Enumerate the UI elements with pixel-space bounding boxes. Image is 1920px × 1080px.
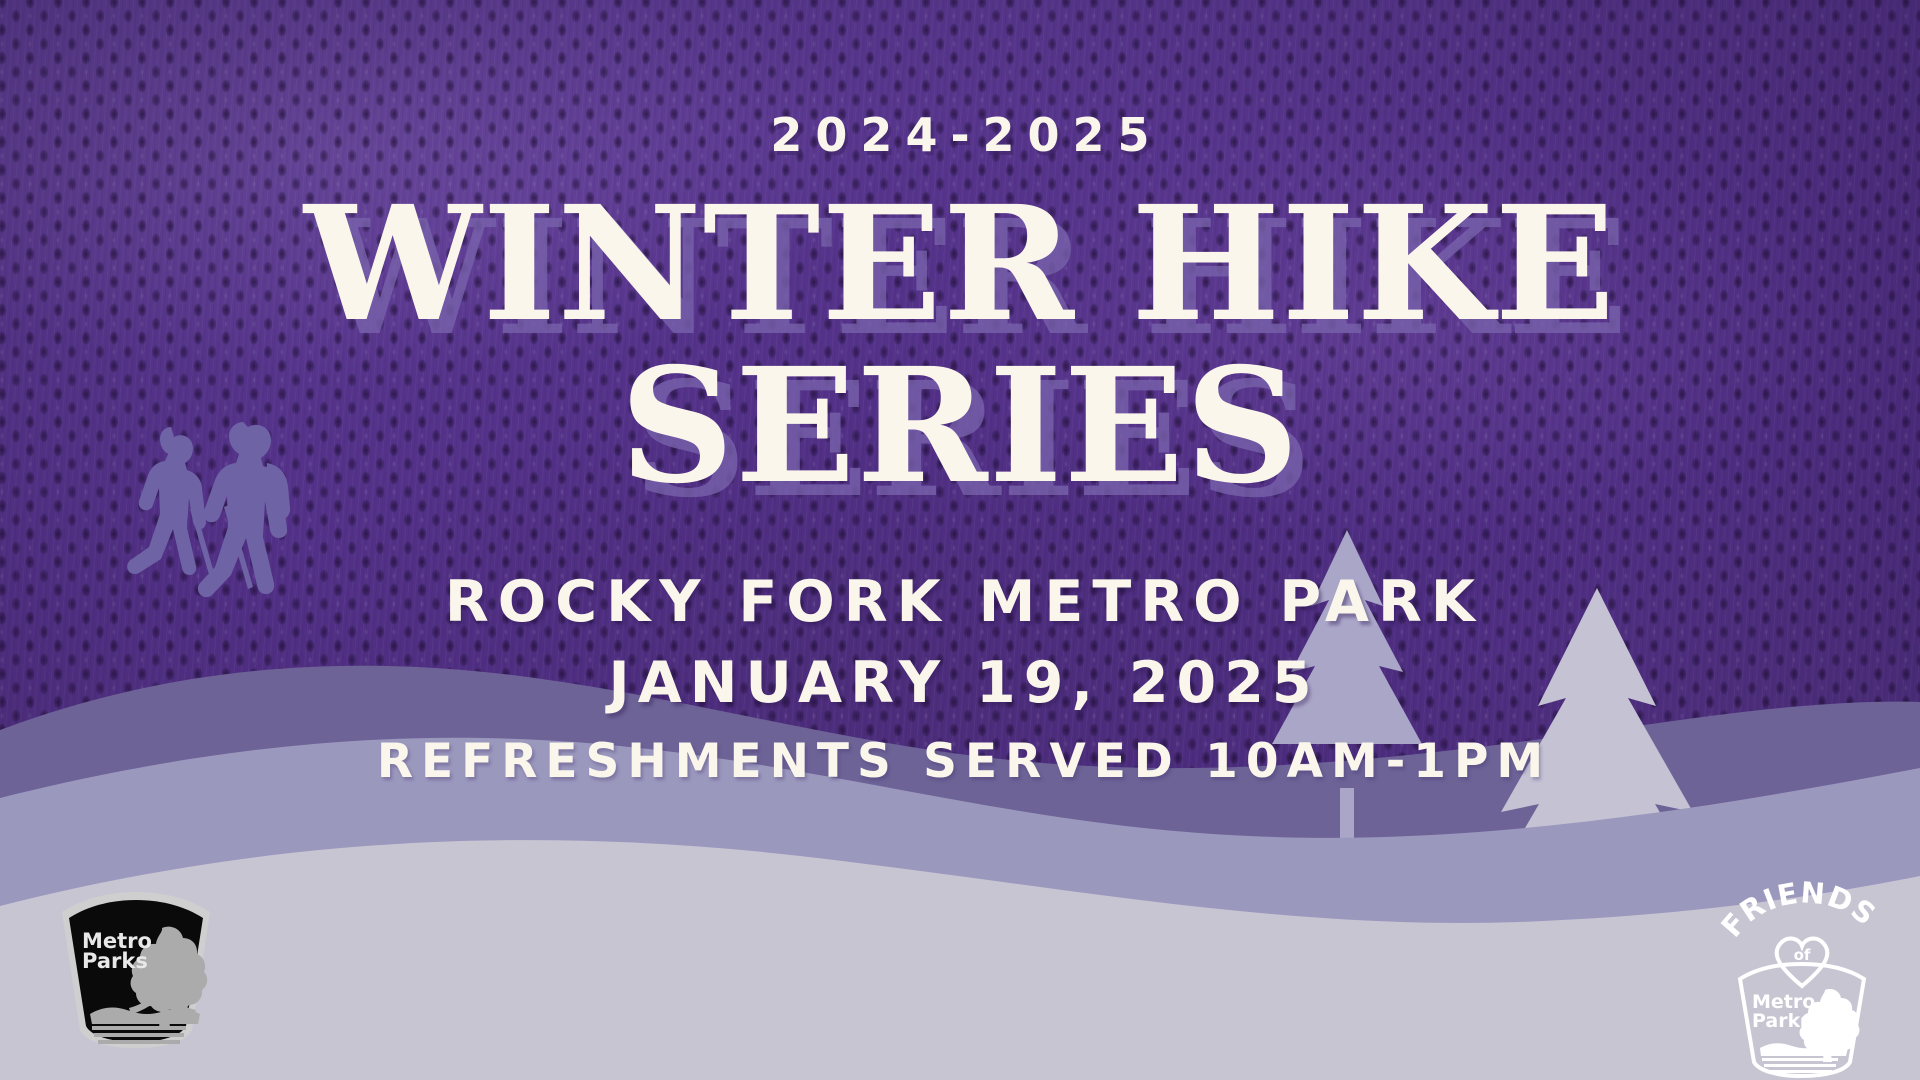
event-date: JANUARY 19, 2025	[0, 655, 1920, 712]
poster-text-stack: 2024-2025 WINTER HIKE SERIES ROCKY FORK …	[0, 0, 1920, 785]
page-title: WINTER HIKE SERIES	[0, 194, 1920, 498]
friends-wordmark-line2: Parks	[1752, 1010, 1812, 1032]
venue-name: ROCKY FORK METRO PARK	[0, 574, 1920, 631]
hill-layer-front	[0, 780, 1920, 1080]
title-line-1: WINTER HIKE	[0, 194, 1920, 336]
refreshments-note: REFRESHMENTS SERVED 10AM-1PM	[0, 738, 1920, 785]
friends-of-metro-parks-badge-icon: FRIENDS of Metro Parks	[1712, 880, 1892, 1080]
title-line-2: SERIES	[0, 356, 1920, 498]
winter-hike-series-poster: 2024-2025 WINTER HIKE SERIES ROCKY FORK …	[0, 0, 1920, 1080]
friends-heart-word: of	[1794, 946, 1811, 964]
season-label: 2024-2025	[0, 112, 1920, 158]
metro-parks-badge-icon: Metro Parks	[52, 890, 220, 1050]
metroparks-wordmark-line2: Parks	[82, 949, 148, 973]
friends-arc-wordmark: FRIENDS	[1714, 880, 1882, 944]
